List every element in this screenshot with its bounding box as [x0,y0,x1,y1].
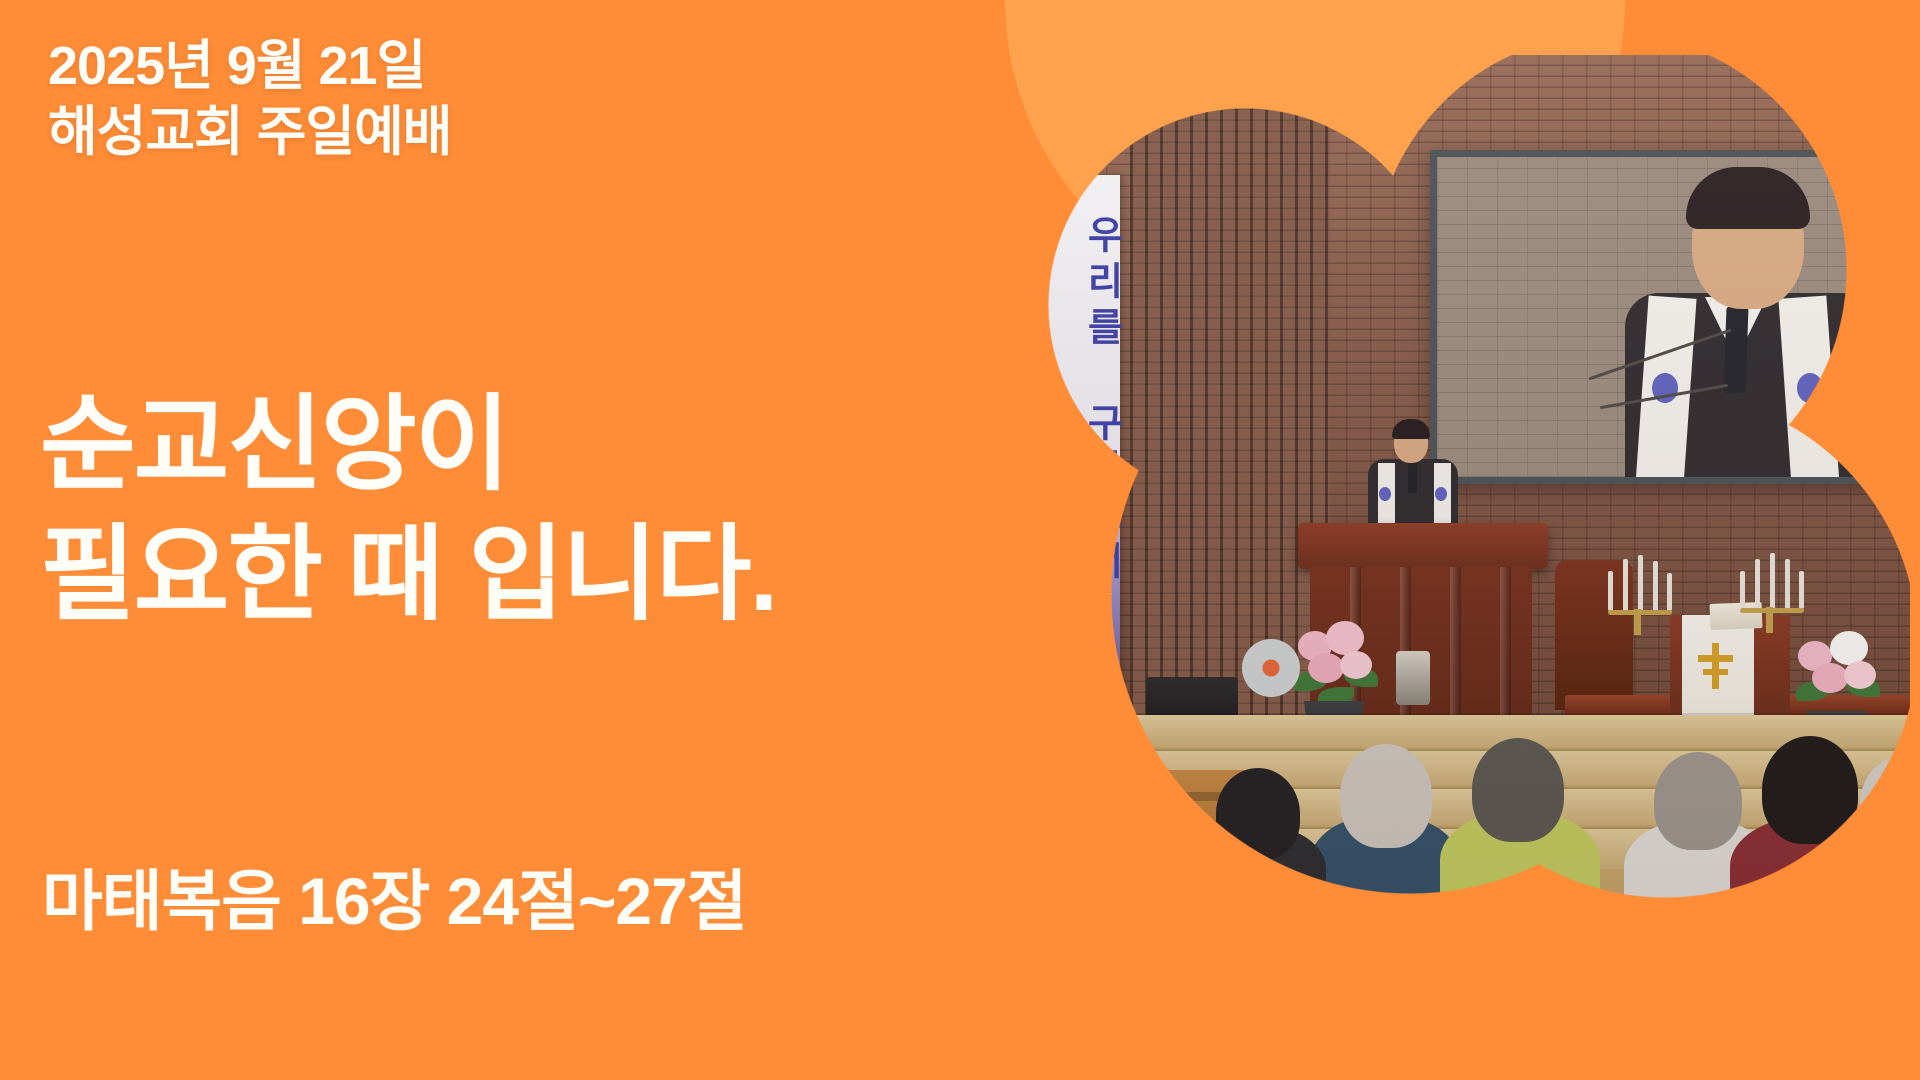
lantern [1396,651,1430,705]
banner-verse-refs: 21353:45-16 [1088,549,1112,619]
hanging-banner: 우리를 구하소서 21353:45-16 해성교회 [1016,175,1120,715]
electric-fan [1242,639,1300,697]
congregant-head-3 [1216,768,1300,860]
lectern-cross-icon [1712,643,1719,689]
thumbnail-canvas: 우리를 구하소서 21353:45-16 해성교회 [0,0,1920,1080]
banner-church-name: 해성교회 [1016,669,1120,689]
pulpit-top [1298,523,1548,569]
preacher-tie [1408,461,1417,493]
scripture-reference: 마태복음 16장 24절~27절 [42,865,747,938]
preacher-badge-right [1435,487,1447,501]
worship-photo: 우리를 구하소서 21353:45-16 해성교회 [1010,55,1910,900]
banner-text: 우리를 구하소서 [1016,215,1120,587]
text-overlay: 2025년 9월 21일 해성교회 주일예배 순교신앙이 필요한 때 입니다. … [0,0,1010,1080]
congregant-head-5 [1762,736,1858,844]
candelabra-right [1740,553,1804,609]
congregant-head-1 [1340,744,1432,848]
photo-scene: 우리를 구하소서 21353:45-16 해성교회 [1010,55,1910,900]
screen-stole-badge-right [1797,373,1823,403]
preacher-badge-left [1379,487,1391,501]
candelabra-left [1608,555,1672,611]
screen-tie [1724,307,1749,394]
sermon-headline: 순교신앙이 필요한 때 입니다. [40,380,776,640]
congregant-head-2 [1472,738,1564,842]
projection-screen [1430,150,1910,484]
congregant-head-4 [1654,752,1742,850]
service-kicker: 2025년 9월 21일 해성교회 주일예배 [48,34,451,166]
